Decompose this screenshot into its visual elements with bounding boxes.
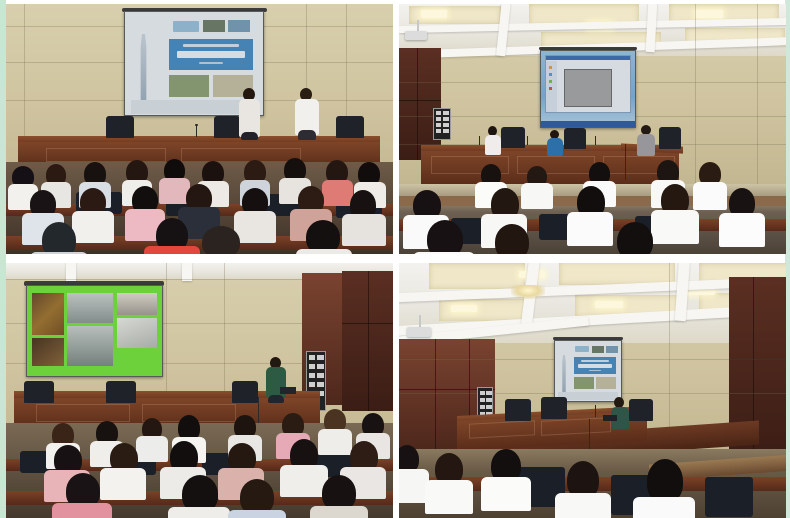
photo-collage xyxy=(0,0,790,518)
projection-screen xyxy=(540,50,636,128)
collage-grid xyxy=(6,0,785,518)
photo-cell-bottom-right[interactable] xyxy=(399,263,786,518)
projection-screen xyxy=(26,285,163,377)
photo-cell-top-left[interactable] xyxy=(6,4,393,254)
photo-bottom-left xyxy=(6,263,393,518)
info-board xyxy=(433,108,451,140)
photo-top-left xyxy=(6,4,393,254)
ceiling-projector xyxy=(407,327,431,337)
projection-screen xyxy=(554,340,622,402)
photo-bottom-right xyxy=(399,263,786,518)
cable xyxy=(625,144,637,180)
photo-cell-top-right[interactable] xyxy=(399,4,786,254)
chandelier xyxy=(511,285,545,299)
photo-top-right xyxy=(399,4,786,254)
photo-cell-bottom-left[interactable] xyxy=(6,263,393,518)
ceiling-projector xyxy=(405,31,427,40)
